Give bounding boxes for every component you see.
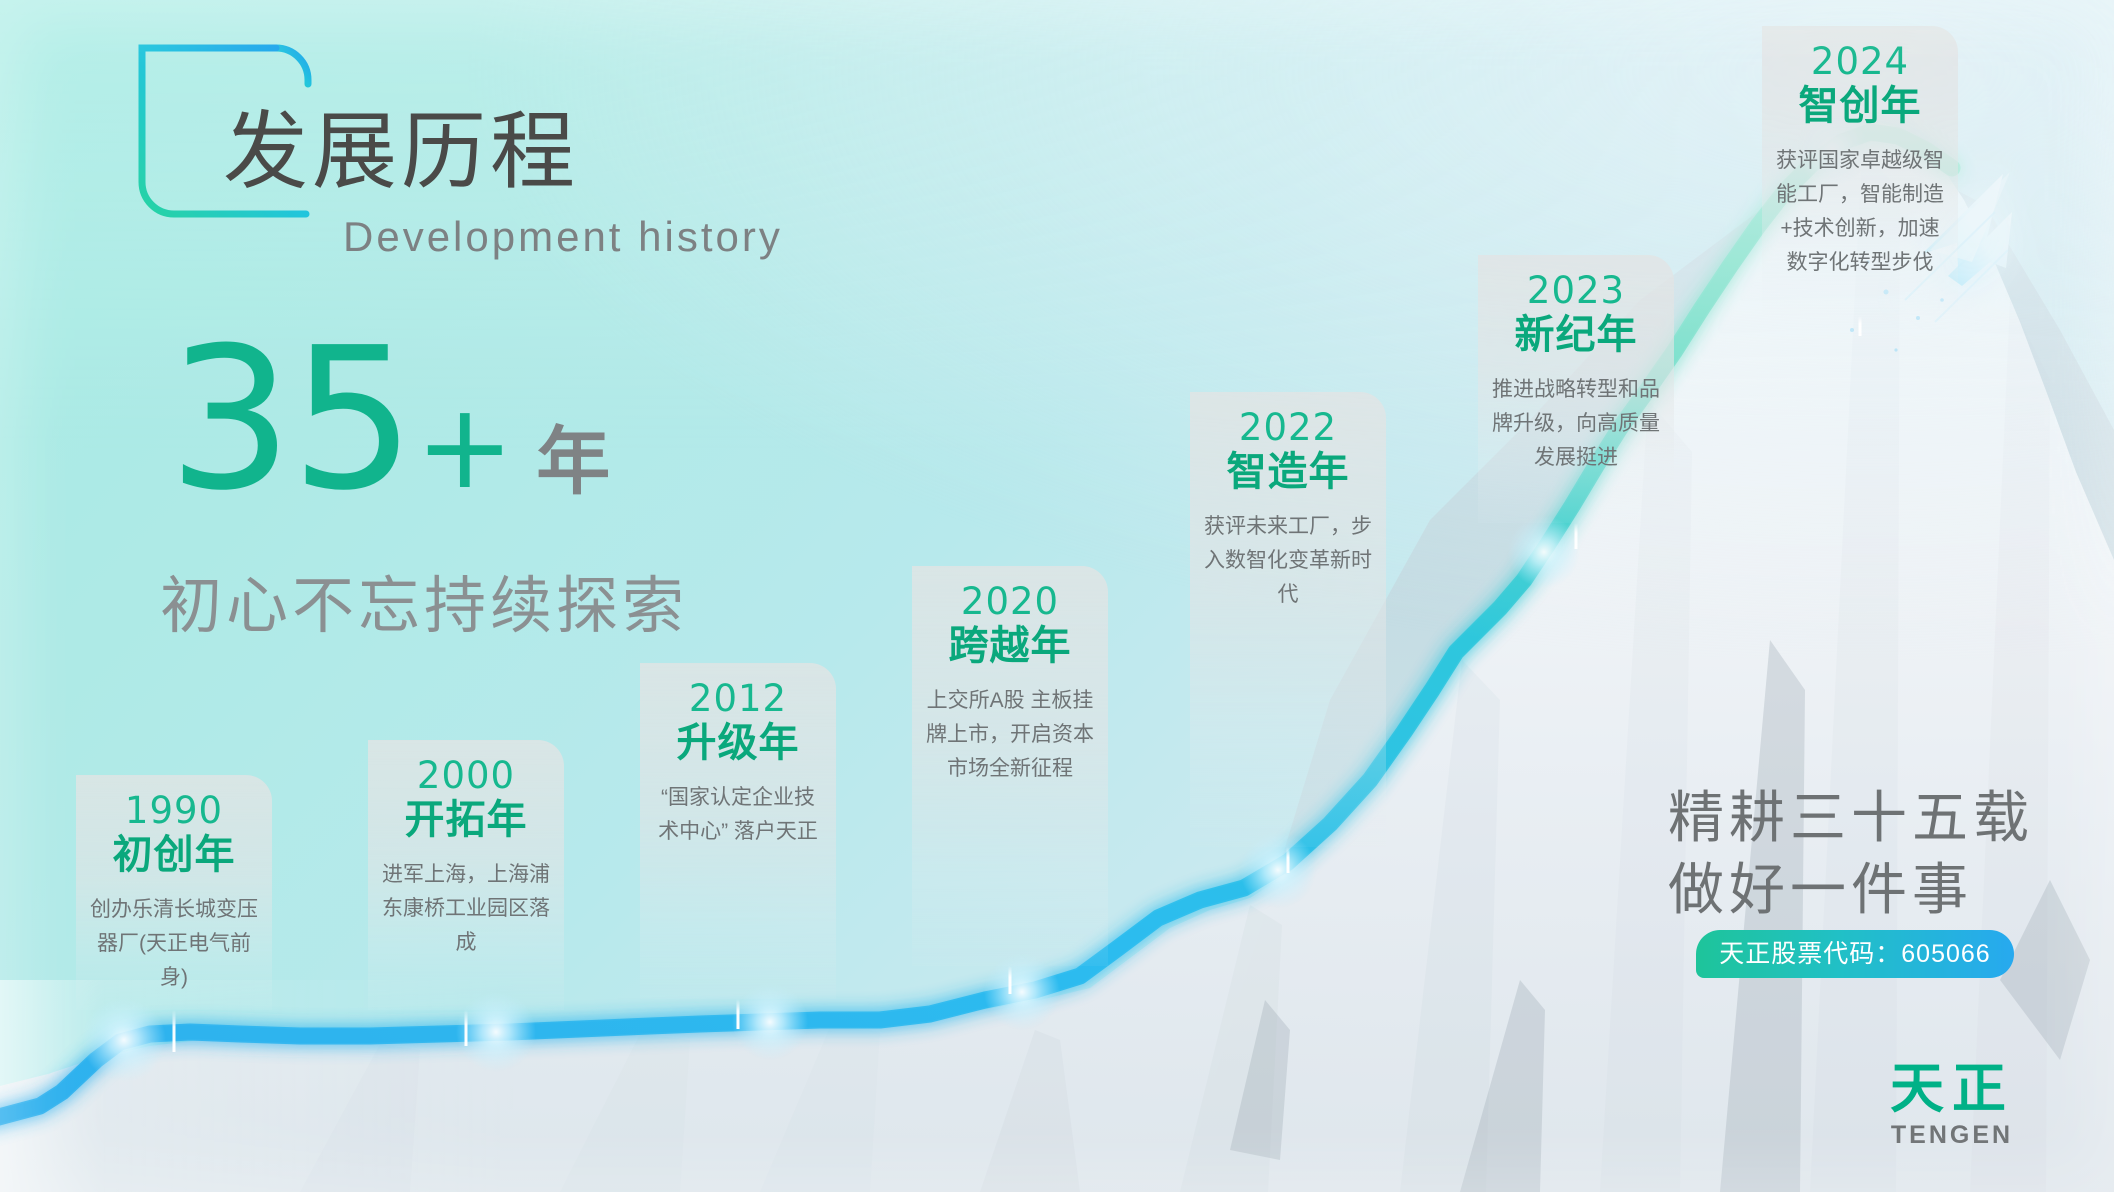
- years-stat: 35+年: [168, 330, 610, 515]
- timeline-stem: [1009, 966, 1012, 994]
- years-unit: 年: [536, 402, 610, 509]
- timeline-card-2020[interactable]: 2020 跨越年 上交所A股 主板挂牌上市，开启资本市场全新征程: [912, 566, 1108, 966]
- timeline-card-2012[interactable]: 2012 升级年 “国家认定企业技术中心” 落户天正: [640, 663, 836, 999]
- timeline-stem: [173, 1010, 176, 1052]
- timeline-year: 2022: [1190, 406, 1386, 450]
- slogan: 精耕三十五载 做好一件事: [1668, 782, 2034, 925]
- timeline-year: 2024: [1762, 40, 1958, 84]
- timeline-desc: “国家认定企业技术中心” 落户天正: [640, 781, 836, 849]
- timeline-card-1990[interactable]: 1990 初创年 创办乐清长城变压器厂(天正电气前身): [76, 775, 272, 1010]
- timeline-card-2024[interactable]: 2024 智创年 获评国家卓越级智能工厂，智能制造+技术创新，加速数字化转型步伐: [1762, 26, 1958, 316]
- timeline-year: 2020: [912, 580, 1108, 624]
- timeline-name: 新纪年: [1478, 311, 1674, 359]
- page-title: 发展历程: [223, 110, 579, 195]
- poster-canvas: 发展历程 Development history 35+年 初心不忘持续探索 1…: [0, 0, 2114, 1192]
- timeline-name: 智创年: [1762, 82, 1958, 130]
- timeline-name: 开拓年: [368, 796, 564, 844]
- timeline-year: 2023: [1478, 269, 1674, 313]
- years-stat-subtitle: 初心不忘持续探索: [160, 555, 688, 645]
- timeline-stem: [1859, 316, 1862, 336]
- stock-code-badge[interactable]: 天正股票代码：605066: [1696, 930, 2014, 978]
- timeline-desc: 获评国家卓越级智能工厂，智能制造+技术创新，加速数字化转型步伐: [1762, 144, 1958, 280]
- timeline-desc: 推进战略转型和品牌升级，向高质量发展挺进: [1478, 373, 1674, 475]
- timeline-name: 智造年: [1190, 448, 1386, 496]
- timeline-name: 升级年: [640, 719, 836, 767]
- page-subtitle-en: Development history: [343, 216, 783, 258]
- timeline-desc: 上交所A股 主板挂牌上市，开启资本市场全新征程: [912, 684, 1108, 786]
- timeline-card-2000[interactable]: 2000 开拓年 进军上海，上海浦东康桥工业园区落成: [368, 740, 564, 1010]
- timeline-year: 2000: [368, 754, 564, 798]
- timeline-card-2022[interactable]: 2022 智造年 获评未来工厂，步入数智化变革新时代: [1190, 392, 1386, 847]
- slogan-line-1: 精耕三十五载: [1668, 782, 2034, 854]
- timeline-name: 初创年: [76, 831, 272, 879]
- years-number: 35: [168, 330, 413, 510]
- timeline-year: 1990: [76, 789, 272, 833]
- logo-text-en: TENGEN: [1872, 1123, 2032, 1148]
- years-plus-sign: +: [415, 377, 514, 515]
- slogan-line-2: 做好一件事: [1668, 854, 2034, 926]
- timeline-stem: [1287, 847, 1290, 873]
- timeline-desc: 获评未来工厂，步入数智化变革新时代: [1190, 510, 1386, 612]
- timeline-stem: [465, 1010, 468, 1046]
- timeline-desc: 创办乐清长城变压器厂(天正电气前身): [76, 893, 272, 995]
- timeline-stem: [1575, 523, 1578, 549]
- timeline-desc: 进军上海，上海浦东康桥工业园区落成: [368, 858, 564, 960]
- logo-text-cn: 天正: [1872, 1062, 2032, 1116]
- timeline-name: 跨越年: [912, 622, 1108, 670]
- brand-logo: 天正 TENGEN: [1872, 1062, 2032, 1148]
- timeline-card-2023[interactable]: 2023 新纪年 推进战略转型和品牌升级，向高质量发展挺进: [1478, 255, 1674, 523]
- timeline-year: 2012: [640, 677, 836, 721]
- timeline-stem: [737, 999, 740, 1029]
